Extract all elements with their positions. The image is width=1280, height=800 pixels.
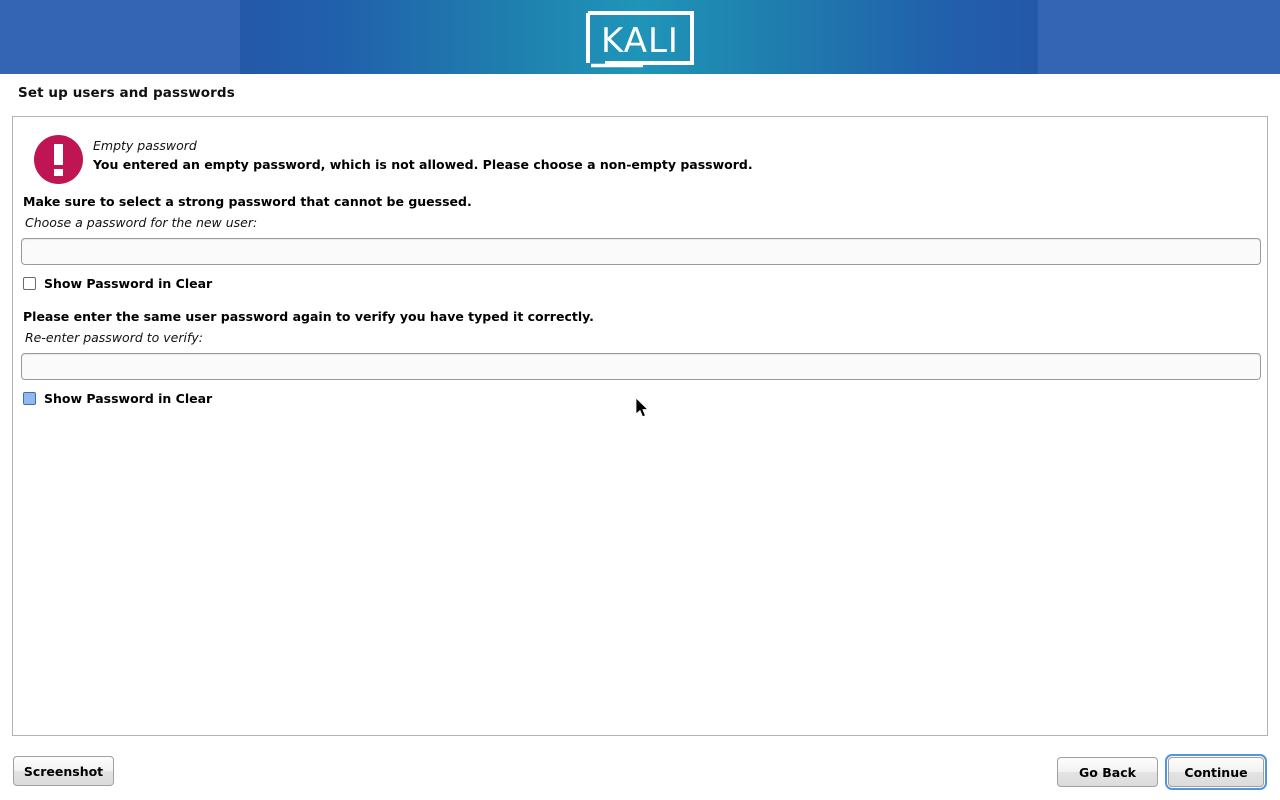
installer-banner: KALI — [0, 0, 1280, 74]
error-message-block: Empty password You entered an empty pass… — [23, 127, 1253, 187]
error-exclamation-icon — [34, 135, 83, 184]
error-title: Empty password — [93, 138, 197, 153]
kali-logo-icon: KALI — [583, 8, 697, 68]
verify-password-input[interactable] — [21, 353, 1261, 380]
verify-field-label: Re-enter password to verify: — [25, 330, 203, 345]
verify-password-hint: Please enter the same user password agai… — [23, 309, 594, 324]
kali-logo-text: KALI — [601, 21, 679, 61]
show-password-clear-label-2: Show Password in Clear — [44, 391, 212, 406]
screenshot-button[interactable]: Screenshot — [13, 756, 114, 786]
show-password-clear-checkbox-2[interactable] — [23, 392, 36, 405]
show-password-clear-checkbox-1[interactable] — [23, 277, 36, 290]
password-field-label: Choose a password for the new user: — [25, 215, 257, 230]
mouse-cursor-arrow-pointer — [636, 398, 650, 419]
password-input[interactable] — [21, 238, 1261, 265]
exclamation-bar — [54, 144, 63, 165]
show-password-clear-label-1: Show Password in Clear — [44, 276, 212, 291]
continue-button[interactable]: Continue — [1168, 757, 1264, 787]
page-title: Set up users and passwords — [18, 85, 235, 101]
error-description: You entered an empty password, which is … — [93, 157, 753, 172]
exclamation-dot — [54, 169, 63, 176]
go-back-button[interactable]: Go Back — [1057, 757, 1158, 787]
main-content-panel: Empty password You entered an empty pass… — [12, 116, 1268, 736]
password-strength-hint: Make sure to select a strong password th… — [23, 194, 472, 209]
